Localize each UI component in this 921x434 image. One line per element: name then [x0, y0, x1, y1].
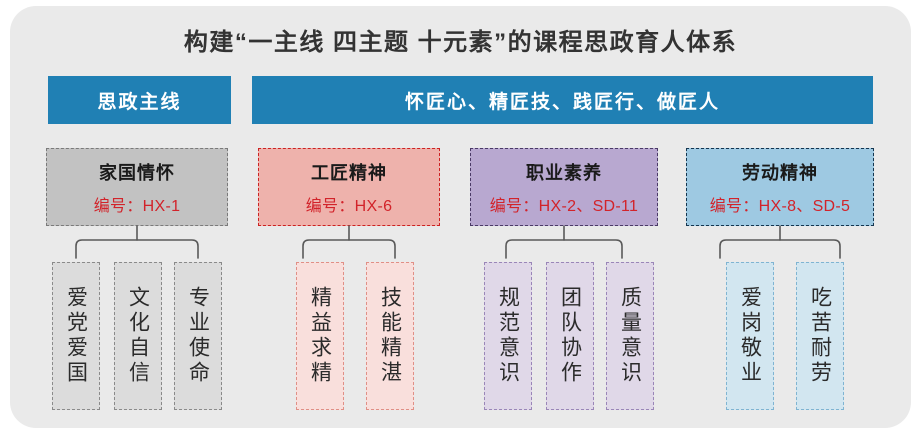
- element-box-tuanduixiezuo: 团队协作: [546, 262, 594, 410]
- element-box-jinengjingzhan: 技能精湛: [366, 262, 414, 410]
- banner-themes: 怀匠心、精匠技、践匠行、做匠人: [252, 76, 873, 124]
- element-box-wenhuazixin: 文化自信: [114, 262, 162, 410]
- element-label: 爱岗敬业: [740, 286, 761, 386]
- element-label: 质量意识: [620, 286, 641, 386]
- element-box-aidangaiguo: 爱党爱国: [52, 262, 100, 410]
- element-label: 吃苦耐劳: [810, 286, 831, 386]
- element-label: 团队协作: [560, 286, 581, 386]
- category-code: 编号：HX-2、SD-11: [490, 192, 639, 216]
- element-box-aigangjingye: 爱岗敬业: [726, 262, 774, 410]
- element-box-chikunailao: 吃苦耐劳: [796, 262, 844, 410]
- category-title: 工匠精神: [311, 159, 387, 185]
- element-label: 技能精湛: [380, 286, 401, 386]
- diagram-canvas: 构建“一主线 四主题 十元素”的课程思政育人体系 思政主线 怀匠心、精匠技、践匠…: [0, 0, 921, 434]
- page-title: 构建“一主线 四主题 十元素”的课程思政育人体系: [0, 22, 921, 57]
- category-title: 职业素养: [526, 159, 602, 185]
- element-label: 规范意识: [498, 286, 519, 386]
- element-box-zhiliangyishi: 质量意识: [606, 262, 654, 410]
- element-box-zhuanyeshiming: 专业使命: [174, 262, 222, 410]
- element-label: 爱党爱国: [66, 286, 87, 386]
- element-label: 精益求精: [310, 286, 331, 386]
- element-box-jingyiqiujing: 精益求精: [296, 262, 344, 410]
- category-title: 劳动精神: [742, 159, 818, 185]
- element-box-guifanyishi: 规范意识: [484, 262, 532, 410]
- banner-main-line: 思政主线: [48, 76, 231, 124]
- element-label: 专业使命: [188, 286, 209, 386]
- category-code: 编号：HX-1: [94, 192, 181, 216]
- category-code: 编号：HX-6: [306, 192, 393, 216]
- category-box-gongjiangjingshen: 工匠精神 编号：HX-6: [258, 148, 440, 226]
- category-box-laodongjingshen: 劳动精神 编号：HX-8、SD-5: [686, 148, 874, 226]
- category-code: 编号：HX-8、SD-5: [710, 192, 851, 216]
- category-box-jiaguoqinghuai: 家国情怀 编号：HX-1: [46, 148, 228, 226]
- element-label: 文化自信: [128, 286, 149, 386]
- banner-main-line-label: 思政主线: [97, 87, 181, 114]
- category-box-zhiyesuyang: 职业素养 编号：HX-2、SD-11: [470, 148, 658, 226]
- category-title: 家国情怀: [99, 159, 175, 185]
- banner-themes-label: 怀匠心、精匠技、践匠行、做匠人: [405, 87, 720, 114]
